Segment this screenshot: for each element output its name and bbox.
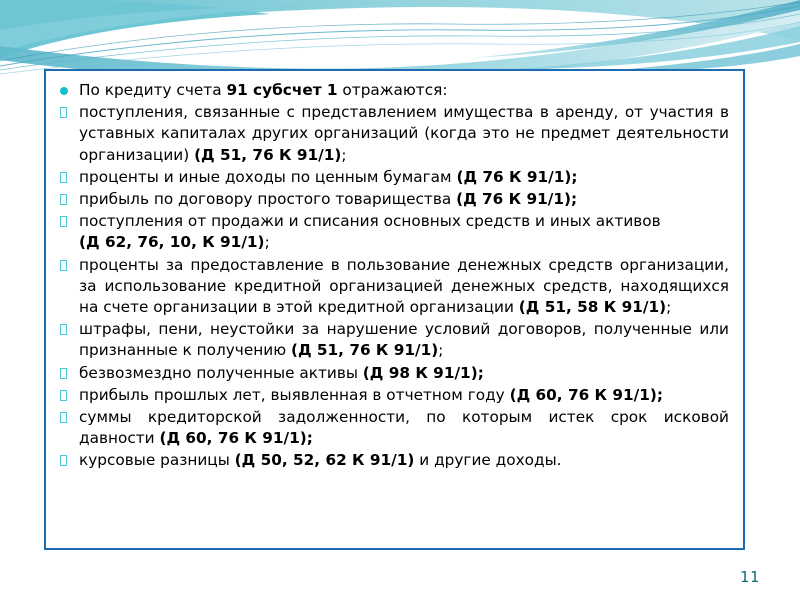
bullet-text: курсовые разницы — [79, 451, 235, 469]
box-bullet-icon — [60, 172, 67, 183]
page-number: 11 — [740, 568, 760, 586]
bullet-text: поступления, связанные с представлением … — [79, 103, 729, 163]
box-bullet-icon — [60, 455, 67, 466]
bullet-text: По кредиту счета — [79, 81, 226, 99]
bullet-text: ; — [666, 298, 671, 316]
list-item: курсовые разницы (Д 50, 52, 62 К 91/1) и… — [56, 450, 729, 471]
bullet-text-bold: (Д 51, 58 К 91/1) — [519, 298, 666, 316]
list-item: поступления от продажи и списания основн… — [56, 211, 729, 253]
bullet-text: ; — [341, 146, 346, 164]
bullet-text-bold: 91 субсчет 1 — [226, 81, 337, 99]
box-bullet-icon — [60, 368, 67, 379]
bullet-text: прибыль прошлых лет, выявленная в отчетн… — [79, 386, 510, 404]
list-item: По кредиту счета 91 субсчет 1 отражаются… — [56, 80, 729, 101]
list-item: прибыль по договору простого товариществ… — [56, 189, 729, 210]
bullet-text-bold: (Д 50, 52, 62 К 91/1) — [235, 451, 415, 469]
slide-canvas: По кредиту счета 91 субсчет 1 отражаются… — [0, 0, 800, 600]
bullet-list: По кредиту счета 91 субсчет 1 отражаются… — [56, 80, 729, 472]
dot-bullet-icon — [60, 87, 68, 95]
bullet-text: прибыль по договору простого товариществ… — [79, 190, 456, 208]
list-item: суммы кредиторской задолженности, по кот… — [56, 407, 729, 449]
bullet-text: поступления от продажи и списания основн… — [79, 212, 661, 230]
bullet-text-bold: (Д 76 К 91/1); — [456, 168, 577, 186]
box-bullet-icon — [60, 260, 67, 271]
list-item: прибыль прошлых лет, выявленная в отчетн… — [56, 385, 729, 406]
bullet-text-bold: (Д 51, 76 К 91/1) — [194, 146, 341, 164]
list-item: штрафы, пени, неустойки за нарушение усл… — [56, 319, 729, 361]
box-bullet-icon — [60, 412, 67, 423]
bullet-text-bold: (Д 62, 76, 10, К 91/1) — [79, 233, 265, 251]
bullet-text-bold: (Д 60, 76 К 91/1); — [159, 429, 312, 447]
list-item: безвозмездно полученные активы (Д 98 К 9… — [56, 363, 729, 384]
box-bullet-icon — [60, 216, 67, 227]
box-bullet-icon — [60, 390, 67, 401]
bullet-text: и другие доходы. — [414, 451, 561, 469]
bullet-text: проценты и иные доходы по ценным бумагам — [79, 168, 456, 186]
list-item: проценты и иные доходы по ценным бумагам… — [56, 167, 729, 188]
bullet-text: ; — [265, 233, 270, 251]
list-item: поступления, связанные с представлением … — [56, 102, 729, 166]
bullet-text-bold: (Д 76 К 91/1); — [456, 190, 577, 208]
bullet-text: безвозмездно полученные активы — [79, 364, 363, 382]
bullet-text: отражаются: — [338, 81, 448, 99]
bullet-text: ; — [438, 341, 443, 359]
box-bullet-icon — [60, 107, 67, 118]
box-bullet-icon — [60, 324, 67, 335]
bullet-text-bold: (Д 60, 76 К 91/1); — [510, 386, 663, 404]
box-bullet-icon — [60, 194, 67, 205]
list-item: проценты за предоставление в пользование… — [56, 255, 729, 319]
content-box: По кредиту счета 91 субсчет 1 отражаются… — [44, 69, 745, 550]
bullet-text-bold: (Д 98 К 91/1); — [363, 364, 484, 382]
bullet-text-bold: (Д 51, 76 К 91/1) — [291, 341, 438, 359]
